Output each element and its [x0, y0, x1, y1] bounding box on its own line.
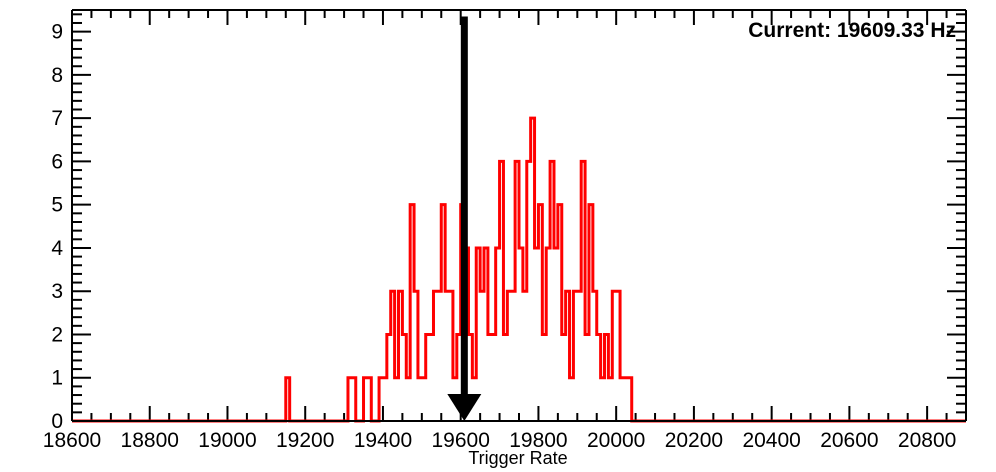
canvas-background	[0, 0, 996, 472]
x-tick-label: 19000	[198, 429, 256, 452]
trigger-rate-histogram: 0123456789 18600188001900019200194001960…	[0, 0, 996, 472]
x-tick-label: 19400	[354, 429, 412, 452]
y-tick-label: 8	[51, 64, 63, 87]
x-tick-label: 20200	[665, 429, 723, 452]
x-tick-label: 20800	[898, 429, 956, 452]
x-tick-label: 20400	[742, 429, 800, 452]
x-tick-label: 20600	[820, 429, 878, 452]
y-tick-label: 6	[51, 150, 63, 173]
y-tick-label: 5	[51, 194, 63, 217]
current-value-label: Current: 19609.33 Hz	[748, 19, 956, 42]
y-tick-label: 2	[51, 323, 63, 346]
x-tick-label: 19200	[276, 429, 334, 452]
y-tick-label: 4	[51, 237, 63, 260]
y-tick-label: 9	[51, 21, 63, 44]
x-tick-label: 20000	[587, 429, 645, 452]
x-tick-label: 18600	[43, 429, 101, 452]
x-tick-label: 18800	[121, 429, 179, 452]
y-tick-label: 3	[51, 280, 63, 303]
histogram-canvas: 0123456789 18600188001900019200194001960…	[0, 0, 996, 472]
y-tick-label: 1	[51, 367, 63, 390]
y-tick-label: 7	[51, 107, 63, 130]
x-axis-title: Trigger Rate	[468, 448, 567, 468]
